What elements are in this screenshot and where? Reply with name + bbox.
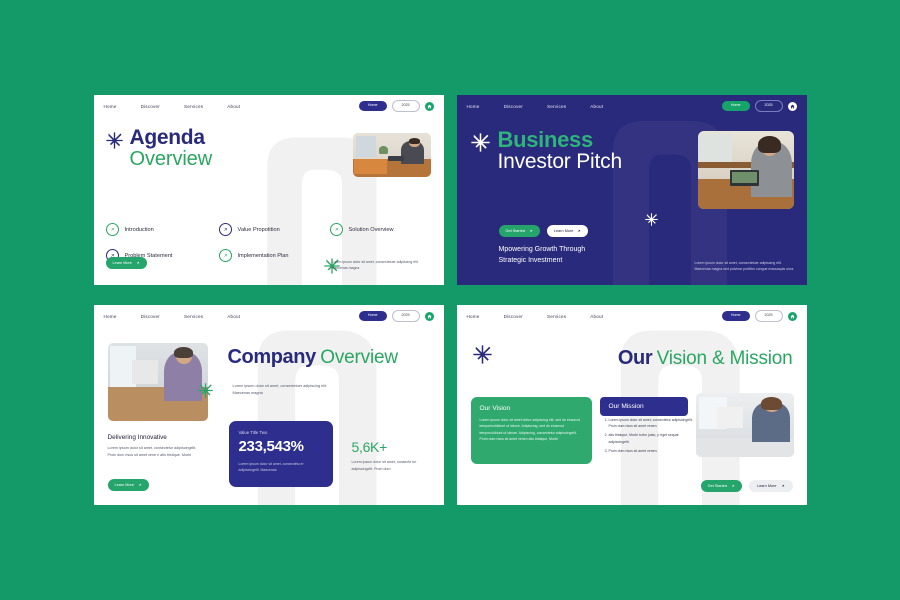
nav-link-about[interactable]: About xyxy=(227,314,240,319)
arrow-up-right-icon xyxy=(138,483,142,487)
mission-list-item: atis tristique, Morbi tortor justo, p eg… xyxy=(609,432,699,445)
nav-links[interactable]: Home Discover Services About xyxy=(467,314,604,319)
slide-agenda[interactable]: Home Discover Services About Home 2025 A… xyxy=(89,90,449,290)
nav-actions[interactable]: Home 2025 xyxy=(722,310,797,322)
arrow-up-right-icon xyxy=(731,484,735,488)
nav-link-about[interactable]: About xyxy=(590,314,603,319)
nav-link-about[interactable]: About xyxy=(227,104,240,109)
slide2-navbar[interactable]: Home Discover Services About Home 2025 xyxy=(457,95,807,117)
nav-link-about[interactable]: About xyxy=(590,104,603,109)
learn-more-label: Learn More xyxy=(113,261,132,265)
stat-card-paragraph: Lorem ipsum dolor sit amet, consectetu e… xyxy=(239,461,323,474)
slide3-left-paragraph: Lorem ipsum dolor sit amet, consectetur … xyxy=(108,445,206,458)
stat-paragraph: Lorem ipsum dolor sit amet, consecte tur… xyxy=(352,459,438,472)
get-started-button[interactable]: Get Started xyxy=(499,225,540,237)
learn-more-label: Learn More xyxy=(757,484,776,488)
stat-value: 5,6K+ xyxy=(352,439,438,455)
agenda-item-introduction[interactable]: Introduction xyxy=(106,223,173,236)
arrow-up-right-circle-icon xyxy=(219,249,232,262)
get-started-button[interactable]: Get Started xyxy=(701,480,742,492)
white-asterisk-star-icon xyxy=(645,213,658,226)
slide1-photo xyxy=(353,133,431,177)
agenda-item-implementation-plan[interactable]: Implementation Plan xyxy=(219,249,289,262)
slide2-title-line2: Investor Pitch xyxy=(498,151,622,173)
learn-more-button[interactable]: Learn More xyxy=(547,225,588,237)
mission-list: Lorem ipsum dolor sit amet, consectetur … xyxy=(600,417,699,457)
nav-home-button[interactable]: Home xyxy=(722,311,750,321)
nav-year-button[interactable]: 2025 xyxy=(392,310,420,322)
nav-home-button[interactable]: Home xyxy=(722,101,750,111)
agenda-item-label: Introduction xyxy=(125,227,154,233)
slide2-title-line1: Business xyxy=(498,129,622,151)
arrow-up-right-icon xyxy=(529,229,533,233)
asterisk-star-icon xyxy=(471,129,490,152)
mission-list-item: Proin dum risus sit amet venen. xyxy=(609,448,699,454)
asterisk-star-icon xyxy=(473,345,492,364)
asterisk-star-icon xyxy=(106,128,123,149)
agenda-item-label: Solution Overview xyxy=(349,227,394,233)
nav-links[interactable]: Home Discover Services About xyxy=(104,104,241,109)
slide3-lorem-top: Lorem ipsum dolor sit amet, consectetuer… xyxy=(233,383,343,397)
slide4-navbar[interactable]: Home Discover Services About Home 2025 xyxy=(457,305,807,327)
nav-year-button[interactable]: 2025 xyxy=(392,100,420,112)
learn-more-button[interactable]: Learn More xyxy=(106,257,147,269)
agenda-item-value-proposition[interactable]: Value Propotition xyxy=(219,223,289,236)
learn-more-label: Learn More xyxy=(554,229,573,233)
slide2-lorem-text: Lorem ipsum dolor sit amet, consectetuer… xyxy=(695,261,795,273)
slide4-photo xyxy=(696,393,794,457)
learn-more-button[interactable]: Learn More xyxy=(108,479,149,491)
slide3-navbar[interactable]: Home Discover Services About Home 2025 xyxy=(94,305,444,327)
stat-block-5-6k: 5,6K+ Lorem ipsum dolor sit amet, consec… xyxy=(352,439,438,472)
arrow-up-right-circle-icon xyxy=(106,223,119,236)
nav-home-button[interactable]: Home xyxy=(359,311,387,321)
get-started-label: Get Started xyxy=(506,229,525,233)
nav-link-services[interactable]: Services xyxy=(184,104,203,109)
nav-actions[interactable]: Home 2025 xyxy=(359,100,434,112)
vision-card: Our Vision Lorem ipsum dolor sit amet ct… xyxy=(471,397,592,464)
nav-link-services[interactable]: Services xyxy=(547,104,566,109)
vision-card-title: Our Vision xyxy=(480,405,583,412)
slide-investor-pitch[interactable]: Home Discover Services About Home 2025 B… xyxy=(452,90,812,290)
green-asterisk-star-icon xyxy=(198,383,213,398)
home-icon[interactable] xyxy=(425,102,434,111)
get-started-label: Get Started xyxy=(708,484,727,488)
slide1-cta-wrapper[interactable]: Learn More xyxy=(106,251,147,269)
slide2-photo xyxy=(698,131,794,209)
slide1-navbar[interactable]: Home Discover Services About Home 2025 xyxy=(94,95,444,117)
slide3-left-heading: Delivering Innovative xyxy=(108,434,167,441)
slide1-lorem-text: Lorem ipsum dolor sit amet, consectetuer… xyxy=(332,259,432,271)
slide2-heading: Business Investor Pitch xyxy=(471,129,622,173)
slide1-title-line1: Agenda xyxy=(130,128,213,149)
agenda-item-label: Value Propotition xyxy=(238,227,280,233)
nav-actions[interactable]: Home 2025 xyxy=(722,100,797,112)
slide3-photo xyxy=(108,343,208,421)
arrow-up-right-icon xyxy=(781,484,785,488)
agenda-column-2: Value Propotition Implementation Plan xyxy=(219,223,289,275)
slide1-title-line2: Overview xyxy=(130,149,213,169)
nav-links[interactable]: Home Discover Services About xyxy=(104,314,241,319)
nav-link-home[interactable]: Home xyxy=(467,314,480,319)
slide3-title: Company Overview xyxy=(228,346,398,369)
stat-card-title: Value Title Two xyxy=(239,430,323,435)
arrow-up-right-circle-icon xyxy=(219,223,232,236)
slide4-title: Our Vision & Mission xyxy=(618,347,793,370)
nav-links[interactable]: Home Discover Services About xyxy=(467,104,604,109)
slide3-cta-wrapper[interactable]: Learn More xyxy=(108,473,149,491)
nav-actions[interactable]: Home 2025 xyxy=(359,310,434,322)
nav-link-discover[interactable]: Discover xyxy=(504,314,523,319)
slide-vision-mission[interactable]: Home Discover Services About Home 2025 O… xyxy=(452,300,812,510)
slide2-buttons[interactable]: Get Started Learn More xyxy=(499,225,589,237)
nav-link-home[interactable]: Home xyxy=(104,314,117,319)
nav-link-discover[interactable]: Discover xyxy=(504,104,523,109)
slide-deck: Home Discover Services About Home 2025 A… xyxy=(0,0,900,600)
vision-card-paragraph: Lorem ipsum dolor sit amet ctetur adipis… xyxy=(480,417,583,443)
home-icon[interactable] xyxy=(788,102,797,111)
slide3-title-bold: Company xyxy=(228,346,316,368)
learn-more-button[interactable]: Learn More xyxy=(749,480,792,492)
slide4-title-light: Vision & Mission xyxy=(657,348,793,369)
arrow-up-right-icon xyxy=(577,229,581,233)
nav-link-discover[interactable]: Discover xyxy=(141,104,160,109)
agenda-item-solution-overview[interactable]: Solution Overview xyxy=(330,223,394,236)
slide-company-overview[interactable]: Home Discover Services About Home 2025 xyxy=(89,300,449,510)
slide2-subtitle: Mpowering Growth Through Strategic Inves… xyxy=(499,245,639,266)
learn-more-label: Learn More xyxy=(115,483,134,487)
nav-link-home[interactable]: Home xyxy=(467,104,480,109)
home-icon[interactable] xyxy=(788,312,797,321)
agenda-column-3: Solution Overview xyxy=(330,223,394,249)
mission-list-item: Lorem ipsum dolor sit amet, consectetur … xyxy=(609,417,699,430)
stat-card-value: 233,543% xyxy=(239,439,323,456)
slide2-subtitle-line2: Strategic Investment xyxy=(499,256,639,267)
nav-year-button[interactable]: 2025 xyxy=(755,100,783,112)
slide1-heading: Agenda Overview xyxy=(106,128,213,169)
nav-home-button[interactable]: Home xyxy=(359,101,387,111)
slide3-title-light: Overview xyxy=(320,347,398,368)
nav-link-services[interactable]: Services xyxy=(184,314,203,319)
slide4-title-bold: Our xyxy=(618,347,652,369)
arrow-up-right-circle-icon xyxy=(330,223,343,236)
slide2-subtitle-line1: Mpowering Growth Through xyxy=(499,245,639,256)
nav-link-services[interactable]: Services xyxy=(547,314,566,319)
arrow-up-right-icon xyxy=(136,261,140,265)
nav-year-button[interactable]: 2025 xyxy=(755,310,783,322)
nav-link-discover[interactable]: Discover xyxy=(141,314,160,319)
slide4-buttons[interactable]: Get Started Learn More xyxy=(701,480,793,492)
agenda-item-label: Implementation Plan xyxy=(238,253,289,259)
nav-link-home[interactable]: Home xyxy=(104,104,117,109)
stat-card-value-title-two: Value Title Two 233,543% Lorem ipsum dol… xyxy=(229,421,333,487)
home-icon[interactable] xyxy=(425,312,434,321)
mission-card-title: Our Mission xyxy=(600,397,688,416)
